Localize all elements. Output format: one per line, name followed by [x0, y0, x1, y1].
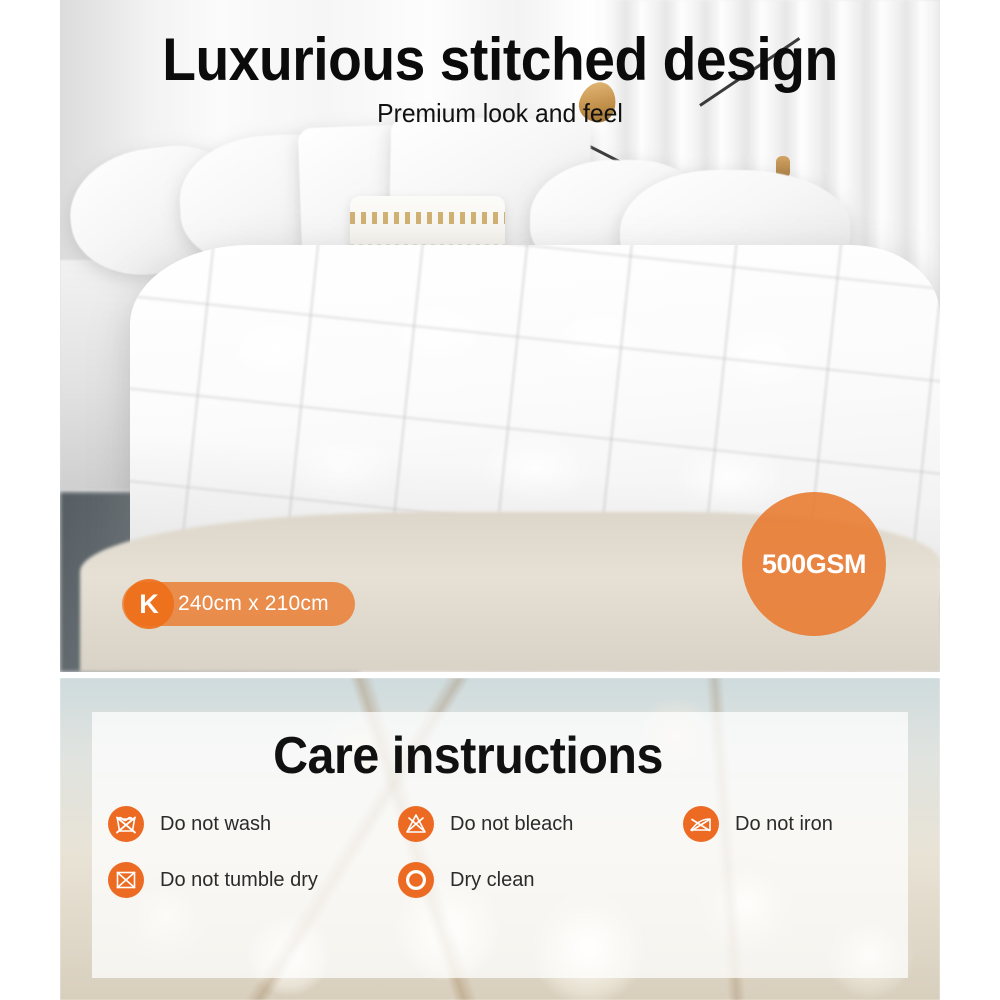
page-title: Luxurious stitched design — [40, 28, 960, 92]
care-item-label: Dry clean — [450, 869, 534, 892]
size-badge-dimensions: 240cm x 210cm — [178, 592, 329, 616]
care-item-do-not-iron: Do not iron — [683, 806, 848, 842]
gsm-badge: 500GSM — [742, 492, 886, 636]
care-instructions-section: Care instructions Do not wash — [60, 678, 940, 1000]
do-not-bleach-icon — [398, 806, 434, 842]
hero-text-block: Luxurious stitched design Premium look a… — [0, 28, 1000, 129]
care-item-label: Do not iron — [735, 813, 833, 836]
care-item-label: Do not wash — [160, 813, 271, 836]
size-badge-letter: K — [124, 579, 174, 629]
dry-clean-icon — [398, 862, 434, 898]
do-not-iron-icon — [683, 806, 719, 842]
care-row: Do not wash Do not bleach — [108, 806, 848, 842]
care-item-dry-clean: Dry clean — [398, 862, 683, 898]
size-badge: K 240cm x 210cm — [122, 582, 355, 626]
care-item-do-not-tumble-dry: Do not tumble dry — [108, 862, 398, 898]
care-item-do-not-wash: Do not wash — [108, 806, 398, 842]
care-item-do-not-bleach: Do not bleach — [398, 806, 683, 842]
do-not-tumble-dry-icon — [108, 862, 144, 898]
care-item-label: Do not bleach — [450, 813, 573, 836]
care-items-grid: Do not wash Do not bleach — [108, 806, 848, 918]
care-title: Care instructions — [89, 726, 848, 786]
care-item-label: Do not tumble dry — [160, 869, 318, 892]
page-subtitle: Premium look and feel — [25, 98, 975, 129]
care-row: Do not tumble dry Dry clean — [108, 862, 848, 898]
do-not-wash-icon — [108, 806, 144, 842]
gsm-badge-label: 500GSM — [762, 549, 866, 580]
